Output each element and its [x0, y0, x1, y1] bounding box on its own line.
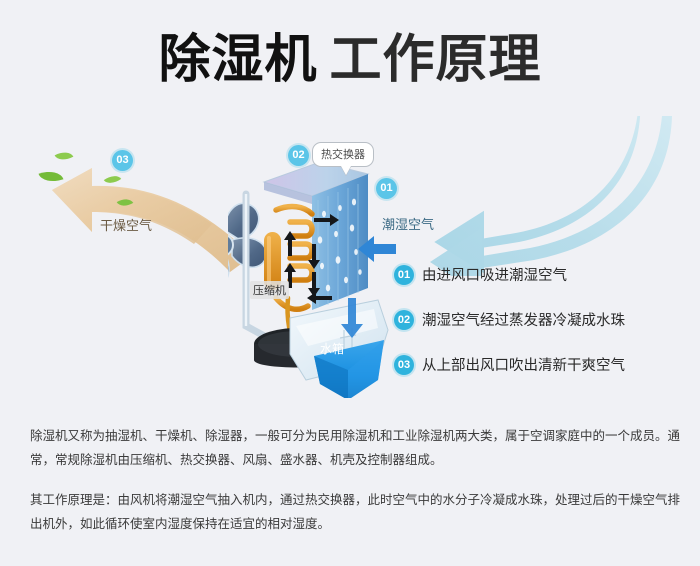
- moist-air-label: 潮湿空气: [382, 214, 434, 233]
- legend-list: 01 由进风口吸进潮湿空气 02 潮湿空气经过蒸发器冷凝成水珠 03 从上部出风…: [394, 252, 690, 387]
- legend-item: 03 从上部出风口吹出清新干爽空气: [394, 342, 690, 387]
- diagram-badge-03: 03: [112, 150, 133, 171]
- legend-text-01: 由进风口吸进潮湿空气: [422, 264, 567, 285]
- legend-text-02: 潮湿空气经过蒸发器冷凝成水珠: [422, 309, 625, 330]
- diagram-badge-02: 02: [288, 145, 309, 166]
- dry-air-label: 干燥空气: [100, 215, 152, 234]
- page-title: 除湿机工作原理: [0, 32, 700, 89]
- legend-item: 01 由进风口吸进潮湿空气: [394, 252, 690, 297]
- legend-text-03: 从上部出风口吹出清新干爽空气: [422, 354, 625, 375]
- legend-badge-03: 03: [394, 355, 414, 375]
- page-title-part1: 除湿机: [158, 31, 317, 89]
- body-copy: 除湿机又称为抽湿机、干燥机、除湿器，一般可分为民用除湿机和工业除湿机两大类，属于…: [30, 424, 680, 536]
- diagram-badge-01: 01: [376, 178, 397, 199]
- water-tank-label: 水箱: [320, 340, 344, 357]
- infographic-page: 除湿机工作原理: [0, 0, 700, 566]
- body-paragraph-1: 除湿机又称为抽湿机、干燥机、除湿器，一般可分为民用除湿机和工业除湿机两大类，属于…: [30, 424, 680, 472]
- heat-exchanger-callout: 热交换器: [312, 142, 374, 167]
- legend-item: 02 潮湿空气经过蒸发器冷凝成水珠: [394, 297, 690, 342]
- legend-badge-02: 02: [394, 310, 414, 330]
- body-paragraph-2: 其工作原理是：由风机将潮湿空气抽入机内，通过热交换器，此时空气中的水分子冷凝成水…: [30, 488, 680, 536]
- compressor-label: 压缩机: [250, 281, 289, 299]
- page-title-part2: 工作原理: [330, 31, 542, 89]
- legend-badge-01: 01: [394, 265, 414, 285]
